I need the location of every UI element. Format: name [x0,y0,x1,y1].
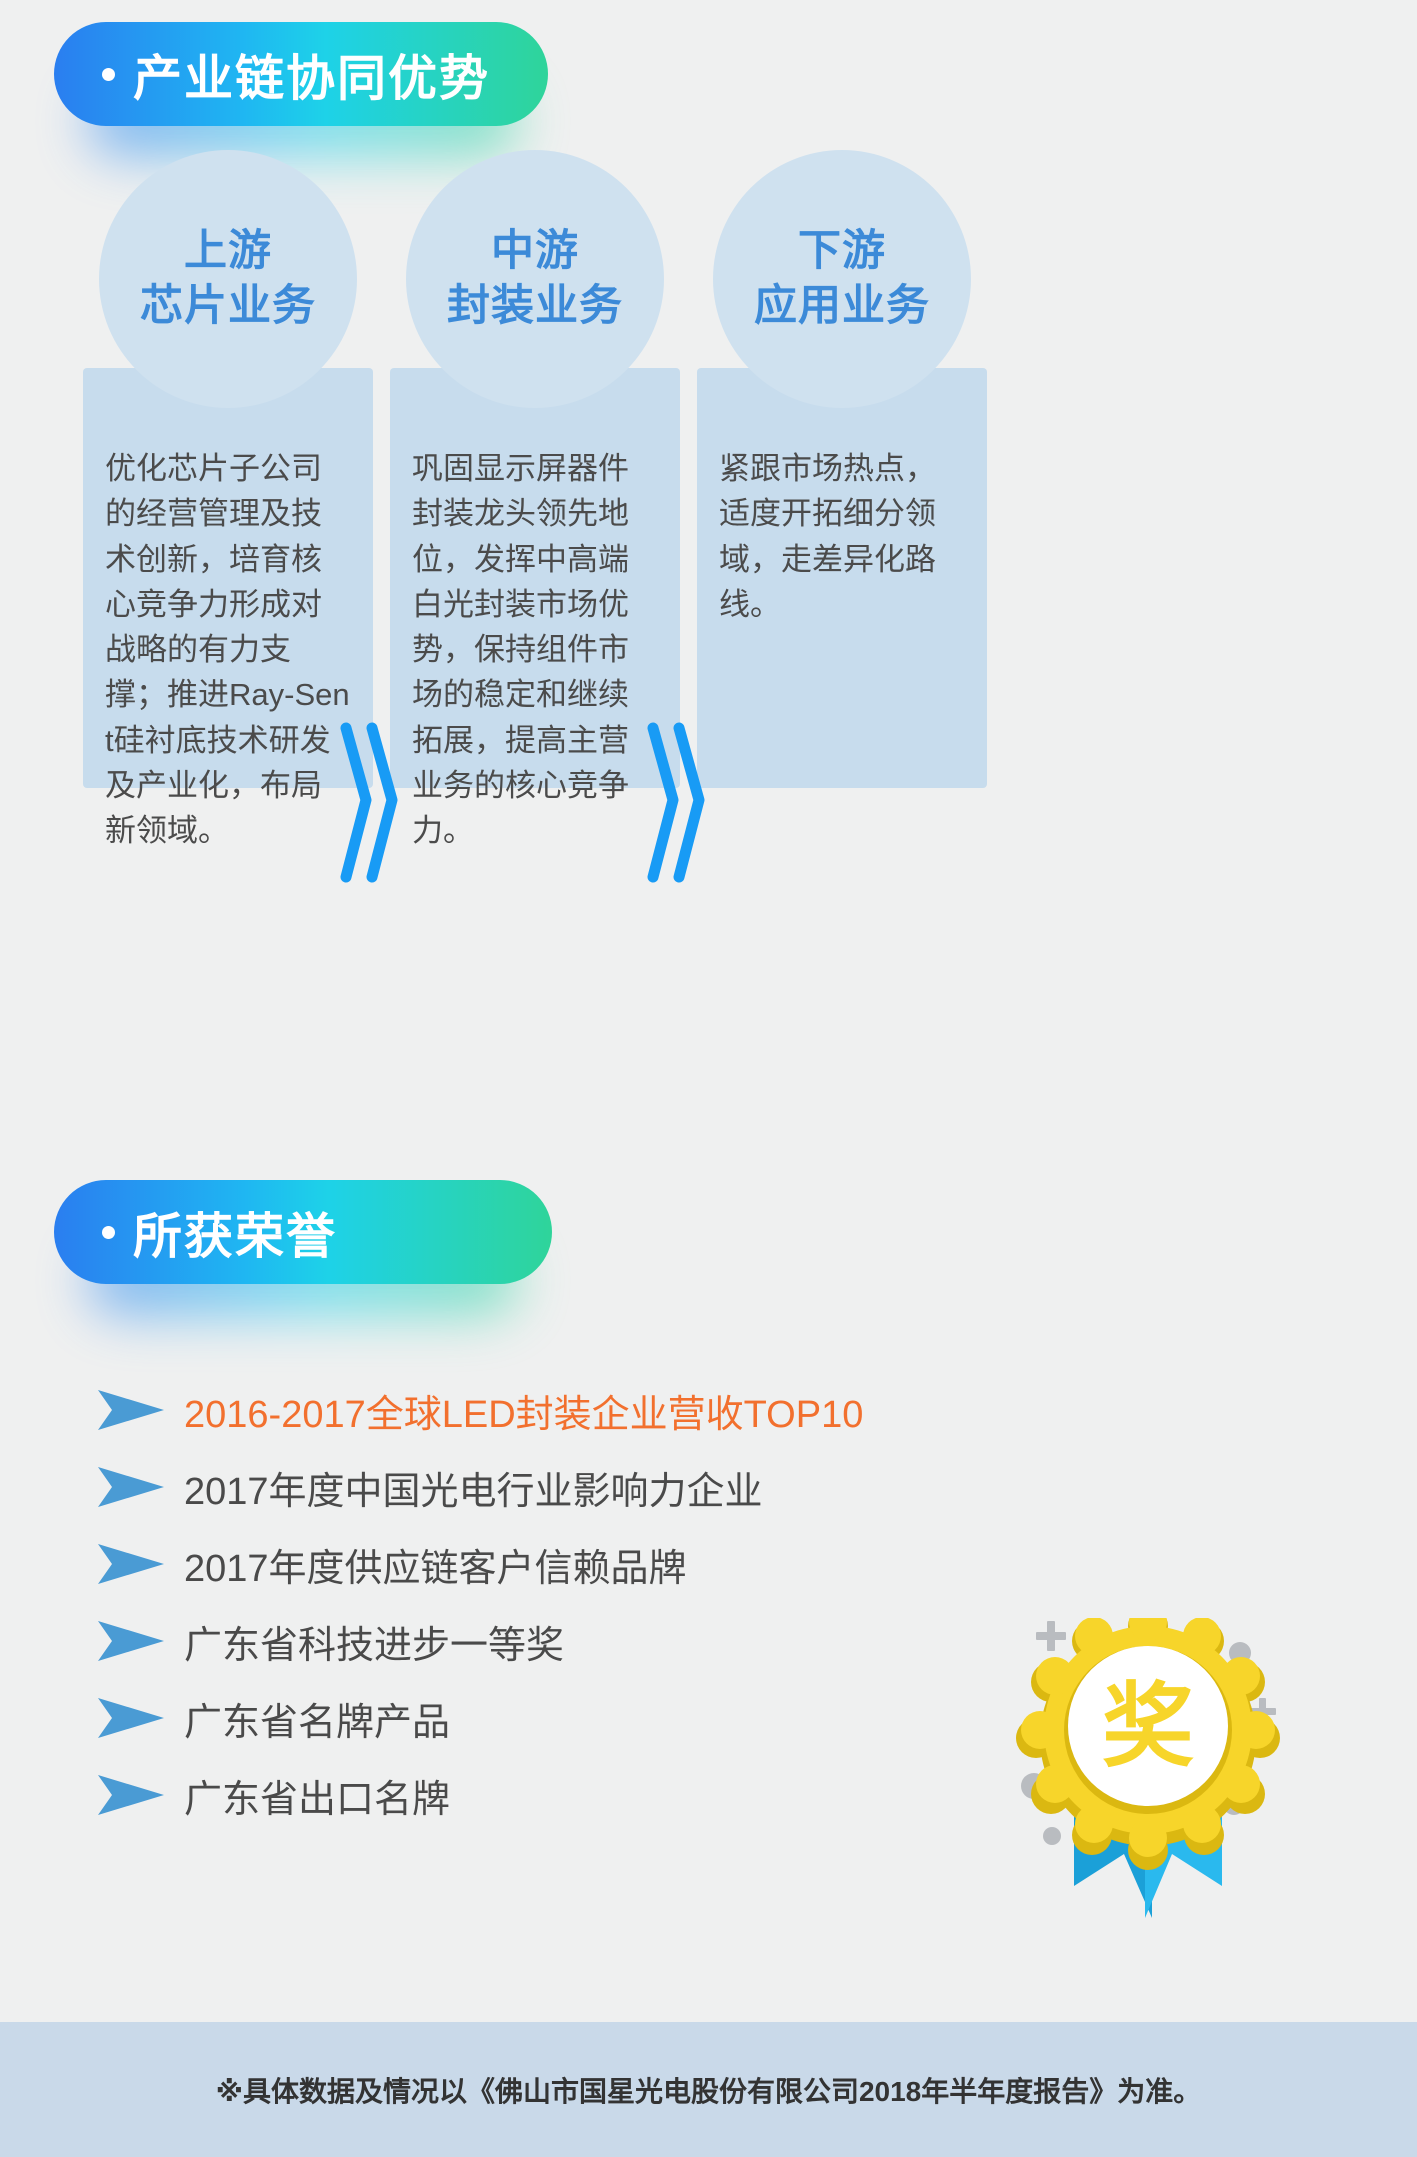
chain-circle-downstream: 下游 应用业务 [713,150,971,408]
section-title-chain: 产业链协同优势 [133,39,490,110]
section-title-honors: 所获荣誉 [133,1197,337,1268]
triangle-right-icon [96,1542,166,1586]
triangle-right-icon [96,1465,166,1509]
honors-list: 2016-2017全球LED封装企业营收TOP10 2017年度中国光电行业影响… [96,1375,1096,1837]
chain-business-label: 应用业务 [754,279,930,334]
honor-label: 2016-2017全球LED封装企业营收TOP10 [184,1383,863,1438]
honor-label: 2017年度供应链客户信赖品牌 [184,1537,687,1592]
industry-chain-group: 上游 芯片业务 优化芯片子公司的经营管理及技术创新，培育核心竞争力形成对战略的有… [0,150,1417,810]
chain-card-upstream: 优化芯片子公司的经营管理及技术创新，培育核心竞争力形成对战略的有力支撑；推进Ra… [83,368,373,788]
chain-stage-label: 上游 [184,224,272,279]
footer-note-bar: ※具体数据及情况以《佛山市国星光电股份有限公司2018年半年度报告》为准。 [0,2022,1417,2157]
list-item: 2017年度中国光电行业影响力企业 [96,1452,1096,1522]
chain-card-text: 优化芯片子公司的经营管理及技术创新，培育核心竞争力形成对战略的有力支撑；推进Ra… [105,446,351,853]
chain-circle-upstream: 上游 芯片业务 [99,150,357,408]
section-banner-honors: 所获荣誉 [54,1180,552,1284]
infographic-page: 产业链协同优势 上游 芯片业务 优化芯片子公司的经营管理及技术创新，培育核心竞争… [0,0,1417,2157]
double-chevron-right-icon-2 [647,720,705,885]
list-item: 广东省科技进步一等奖 [96,1606,1096,1676]
medal-character: 奖 [1102,1676,1194,1778]
chain-business-label: 芯片业务 [140,279,316,334]
triangle-right-icon [96,1619,166,1663]
triangle-right-icon [96,1773,166,1817]
list-item: 2017年度供应链客户信赖品牌 [96,1529,1096,1599]
chain-stage-label: 下游 [798,224,886,279]
chain-card-text: 紧跟市场热点，适度开拓细分领域，走差异化路线。 [719,446,965,627]
chain-card-midstream: 巩固显示屏器件封装龙头领先地位，发挥中高端白光封装市场优势，保持组件市场的稳定和… [390,368,680,788]
chain-circle-midstream: 中游 封装业务 [406,150,664,408]
list-item: 广东省出口名牌 [96,1760,1096,1830]
award-medal-icon: 奖 [1012,1618,1282,1938]
chain-card-text: 巩固显示屏器件封装龙头领先地位，发挥中高端白光封装市场优势，保持组件市场的稳定和… [412,446,658,853]
list-item: 2016-2017全球LED封装企业营收TOP10 [96,1375,1096,1445]
bullet-dot-icon [102,1226,115,1239]
triangle-right-icon [96,1696,166,1740]
bullet-dot-icon [102,68,115,81]
honor-label: 广东省科技进步一等奖 [184,1614,564,1669]
double-chevron-right-icon-1 [340,720,398,885]
honor-label: 2017年度中国光电行业影响力企业 [184,1460,763,1515]
chain-stage-label: 中游 [491,224,579,279]
footer-note: ※具体数据及情况以《佛山市国星光电股份有限公司2018年半年度报告》为准。 [216,2070,1202,2110]
honor-label: 广东省名牌产品 [184,1691,450,1746]
section-banner-chain: 产业链协同优势 [54,22,548,126]
honor-label: 广东省出口名牌 [184,1768,450,1823]
list-item: 广东省名牌产品 [96,1683,1096,1753]
triangle-right-icon [96,1388,166,1432]
chain-card-downstream: 紧跟市场热点，适度开拓细分领域，走差异化路线。 [697,368,987,788]
chain-business-label: 封装业务 [447,279,623,334]
